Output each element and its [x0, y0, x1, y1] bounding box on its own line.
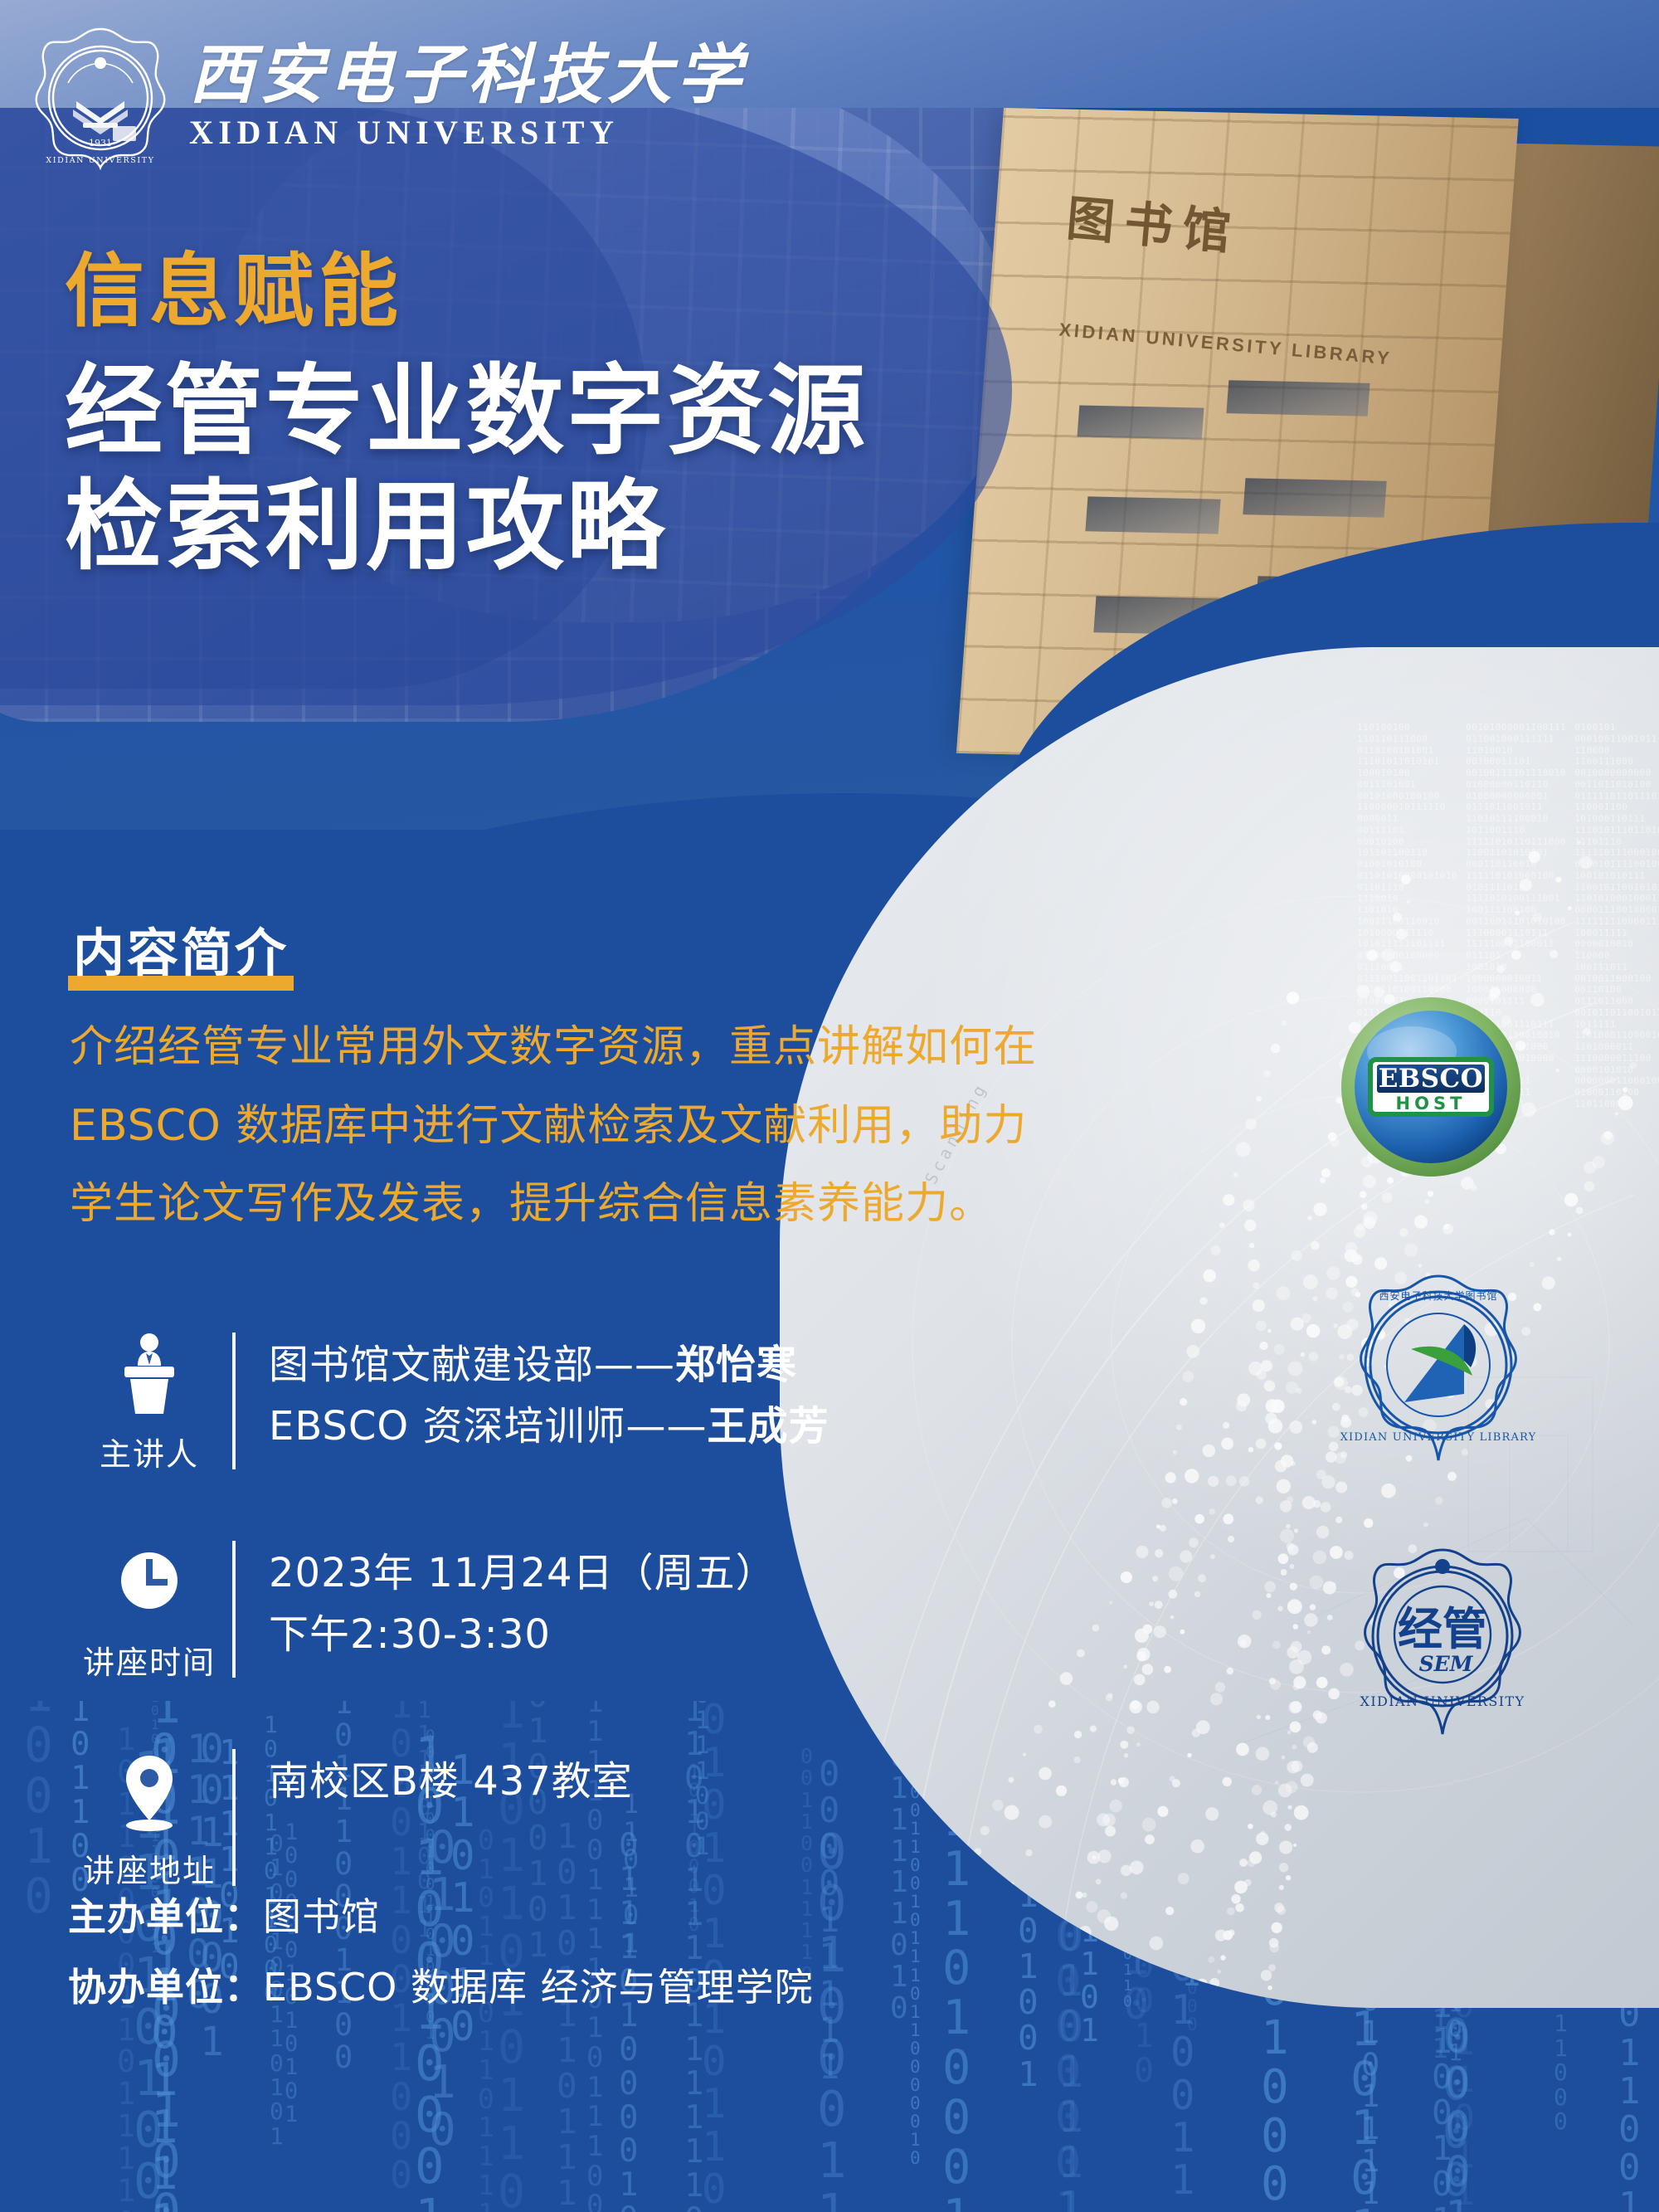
- section-heading: 内容简介: [68, 911, 294, 989]
- location-values: 南校区B楼 437教室: [269, 1744, 633, 1812]
- info-row-speaker: 主讲人 图书馆文献建设部——郑怡寒 EBSCO 资深培训师——王成芳: [66, 1328, 1145, 1474]
- info-divider: [232, 1749, 236, 1886]
- location-pin-icon: [109, 1747, 189, 1834]
- speaker-role: EBSCO 资深培训师——: [269, 1403, 707, 1449]
- crest-year: 1931: [89, 138, 112, 149]
- section-heading-text: 内容简介: [73, 923, 289, 983]
- brand-lockup: 1931 XIDIAN UNIVERSITY 西安电子科技大学 XIDIAN U…: [33, 25, 747, 171]
- building-window: [1226, 380, 1370, 416]
- lecture-time: 下午2:30-3:30: [269, 1604, 776, 1665]
- info-divider: [232, 1333, 236, 1469]
- intro-paragraph: 介绍经管专业常用外文数字资源，重点讲解如何在 EBSCO 数据库中进行文献检索及…: [70, 1008, 1165, 1244]
- building-window: [1243, 478, 1386, 517]
- code-col: 0100101000100110010111100001100111000001…: [1574, 722, 1659, 1110]
- section-heading-wrap: 内容简介: [68, 911, 294, 989]
- host-wordmark: HOST: [1396, 1094, 1467, 1113]
- xidian-library-logo: XIDIAN UNIVERSITY LIBRARY 西安电子科技大学图书馆: [1340, 1269, 1537, 1467]
- organizers-block: 主办单位：图书馆 协办单位：EBSCO 数据库 经济与管理学院: [68, 1882, 814, 2023]
- ebsco-host-logo: EBSCO HOST: [1335, 992, 1526, 1182]
- info-row-time: 讲座时间 2023年 11月24日（周五） 下午2:30-3:30: [66, 1536, 1145, 1683]
- poster-title: 信息赋能 经管专业数字资源 检索利用攻略: [65, 249, 868, 584]
- speaker-entry: EBSCO 资深培训师——王成芳: [269, 1396, 829, 1457]
- sem-logo-abbr: SEM: [1419, 1652, 1474, 1676]
- speaker-name: 郑怡寒: [675, 1342, 797, 1388]
- title-line-3: 检索利用攻略: [65, 469, 868, 584]
- university-name-cn: 西安电子科技大学: [189, 43, 747, 108]
- time-icon-group: 讲座时间: [66, 1536, 232, 1683]
- organizer-row-cohost: 协办单位：EBSCO 数据库 经济与管理学院: [68, 1952, 814, 2023]
- info-list: 主讲人 图书馆文献建设部——郑怡寒 EBSCO 资深培训师——王成芳 讲座时间: [66, 1328, 1145, 1952]
- speaker-name: 王成芳: [707, 1403, 829, 1449]
- intro-line-1: 介绍经管专业常用外文数字资源，重点讲解如何在: [70, 1008, 1165, 1087]
- speaker-values: 图书馆文献建设部——郑怡寒 EBSCO 资深培训师——王成芳: [269, 1328, 829, 1458]
- speaker-entry: 图书馆文献建设部——郑怡寒: [269, 1334, 829, 1396]
- library-logo-en: XIDIAN UNIVERSITY LIBRARY: [1340, 1431, 1537, 1444]
- building-window: [1085, 496, 1220, 534]
- speaker-label: 主讲人: [100, 1429, 199, 1474]
- info-row-location: 讲座地址 南校区B楼 437教室: [66, 1744, 1145, 1891]
- time-values: 2023年 11月24日（周五） 下午2:30-3:30: [269, 1536, 776, 1666]
- cohost-value: EBSCO 数据库 经济与管理学院: [263, 1965, 814, 2010]
- title-line-1: 信息赋能: [65, 249, 868, 335]
- library-logo-cn: 西安电子科技大学图书馆: [1379, 1289, 1497, 1302]
- ebsco-wordmark: EBSCO: [1379, 1064, 1483, 1094]
- poster-root: 图书馆 XIDIAN UNIVERSITY LIBRARY 1110000001…: [0, 0, 1659, 2212]
- xidian-sem-logo: 经管 SEM XIDIAN UNIVERSITY: [1344, 1543, 1541, 1741]
- intro-line-2: EBSCO 数据库中进行文献检索及文献利用，助力: [70, 1087, 1165, 1166]
- time-label: 讲座时间: [83, 1637, 216, 1683]
- lecture-date: 2023年 11月24日（周五）: [269, 1542, 776, 1604]
- cohost-label: 协办单位：: [68, 1965, 263, 2010]
- xidian-university-crest-icon: 1931 XIDIAN UNIVERSITY: [33, 25, 168, 171]
- host-label: 主办单位：: [68, 1894, 263, 1939]
- speaker-role: 图书馆文献建设部——: [269, 1342, 675, 1388]
- title-line-2: 经管专业数字资源: [65, 353, 868, 469]
- lecture-room: 南校区B楼 437教室: [269, 1751, 633, 1812]
- location-icon-group: 讲座地址: [66, 1744, 232, 1891]
- podium-icon: [109, 1331, 189, 1417]
- info-divider: [232, 1541, 236, 1678]
- intro-line-3: 学生论文写作及发表，提升综合信息素养能力。: [70, 1165, 1165, 1244]
- clock-icon: [109, 1539, 189, 1625]
- sem-logo-en: XIDIAN UNIVERSITY: [1360, 1693, 1525, 1709]
- university-name-en: XIDIAN UNIVERSITY: [189, 113, 747, 153]
- building-window: [1078, 405, 1204, 439]
- organizer-row-host: 主办单位：图书馆: [68, 1882, 814, 1952]
- speaker-icon-group: 主讲人: [66, 1328, 232, 1474]
- crest-en-label: XIDIAN UNIVERSITY: [46, 156, 154, 165]
- sem-logo-cn: 经管: [1398, 1603, 1487, 1655]
- host-value: 图书馆: [263, 1894, 380, 1939]
